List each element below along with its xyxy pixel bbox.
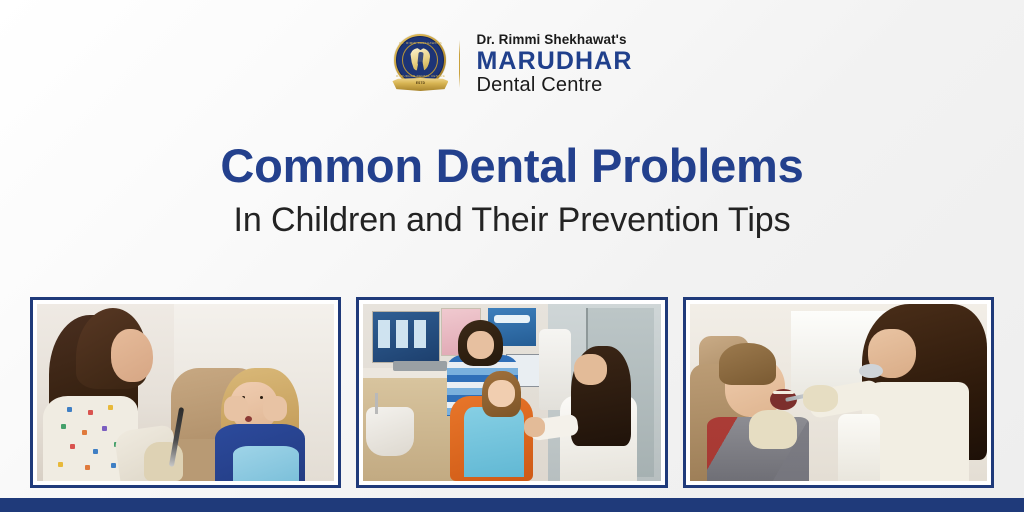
seal-ribbon-label: ESTD xyxy=(392,81,448,85)
logo-vertical-divider xyxy=(459,40,460,88)
logo-clinic-type: Dental Centre xyxy=(476,75,602,95)
title-block: Common Dental Problems In Children and T… xyxy=(0,141,1024,240)
photo-frame-2 xyxy=(356,297,667,488)
bottom-accent-bar xyxy=(0,498,1024,512)
seal-top-text: DR. RIMMI SHEKHAWAT'S xyxy=(391,41,449,45)
marudhar-dental-seal-icon: DR. RIMMI SHEKHAWAT'S MARUDHAR DENTAL CE… xyxy=(391,33,449,95)
logo-header: DR. RIMMI SHEKHAWAT'S MARUDHAR DENTAL CE… xyxy=(0,33,1024,95)
photo-strip xyxy=(30,297,994,488)
page-title: Common Dental Problems xyxy=(0,141,1024,190)
photo-frame-1 xyxy=(30,297,341,488)
page-subtitle: In Children and Their Prevention Tips xyxy=(0,202,1024,239)
logo-doctor-name: Dr. Rimmi Shekhawat's xyxy=(476,33,626,47)
photo-dentist-examining-boy xyxy=(690,304,987,481)
dental-promo-banner: DR. RIMMI SHEKHAWAT'S MARUDHAR DENTAL CE… xyxy=(0,0,1024,512)
logo-wordmark: Dr. Rimmi Shekhawat's MARUDHAR Dental Ce… xyxy=(476,33,632,95)
logo-brand-name: MARUDHAR xyxy=(476,49,632,74)
photo-dentist-with-scared-girl xyxy=(37,304,334,481)
photo-frame-3 xyxy=(683,297,994,488)
photo-clinic-mother-girl-dentist xyxy=(363,304,660,481)
seal-bottom-text: MARUDHAR DENTAL CENTRE xyxy=(391,74,449,78)
